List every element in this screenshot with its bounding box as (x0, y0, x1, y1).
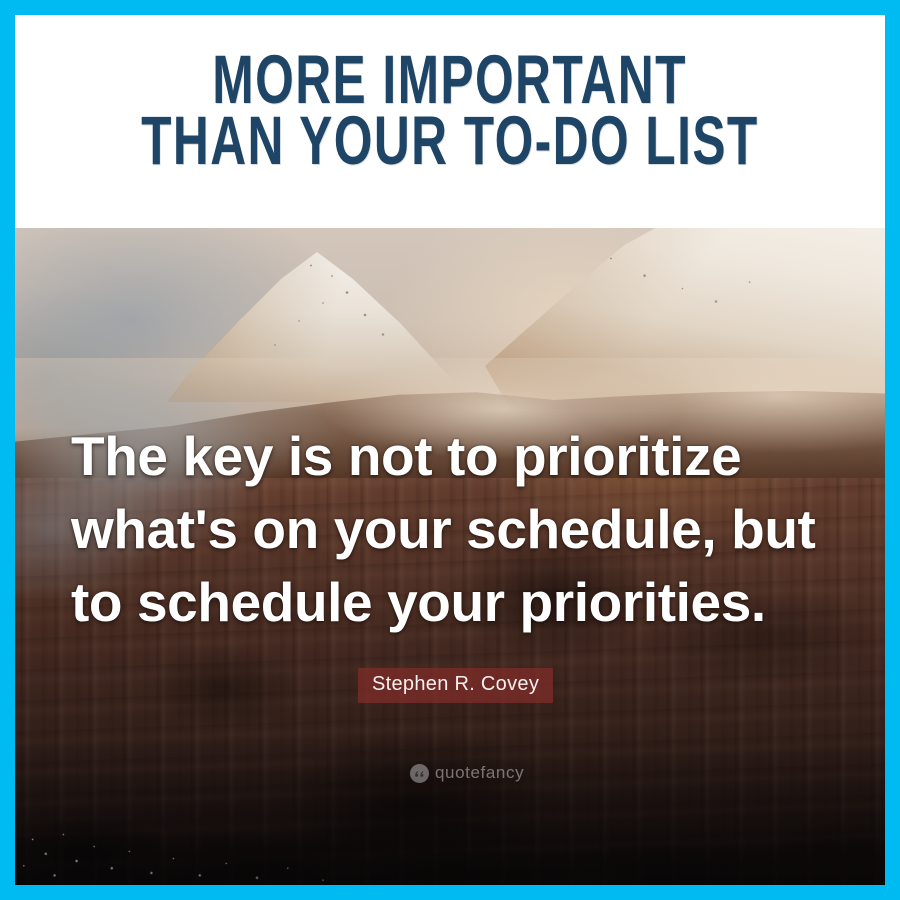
attribution-badge: Stephen R. Covey (358, 668, 553, 703)
header-banner: MORE IMPORTANT THAN YOUR TO-DO LIST (15, 15, 885, 228)
headline-line-2: THAN YOUR TO-DO LIST (141, 109, 759, 173)
watermark: quotefancy (410, 763, 524, 783)
quote-text: The key is not to prioritize what's on y… (71, 420, 841, 639)
quote-overlay: The key is not to prioritize what's on y… (15, 228, 885, 885)
card-inner: MORE IMPORTANT THAN YOUR TO-DO LIST (15, 15, 885, 885)
quote-line-3: to schedule your priorities. (71, 566, 841, 639)
quote-mark-icon (410, 764, 429, 783)
quote-card: MORE IMPORTANT THAN YOUR TO-DO LIST (0, 0, 900, 900)
quote-line-2: what's on your schedule, but (71, 493, 841, 566)
author-name: Stephen R. Covey (372, 673, 539, 695)
background-photo: The key is not to prioritize what's on y… (15, 228, 885, 885)
watermark-text: quotefancy (435, 763, 524, 783)
quote-line-1: The key is not to prioritize (71, 420, 841, 493)
